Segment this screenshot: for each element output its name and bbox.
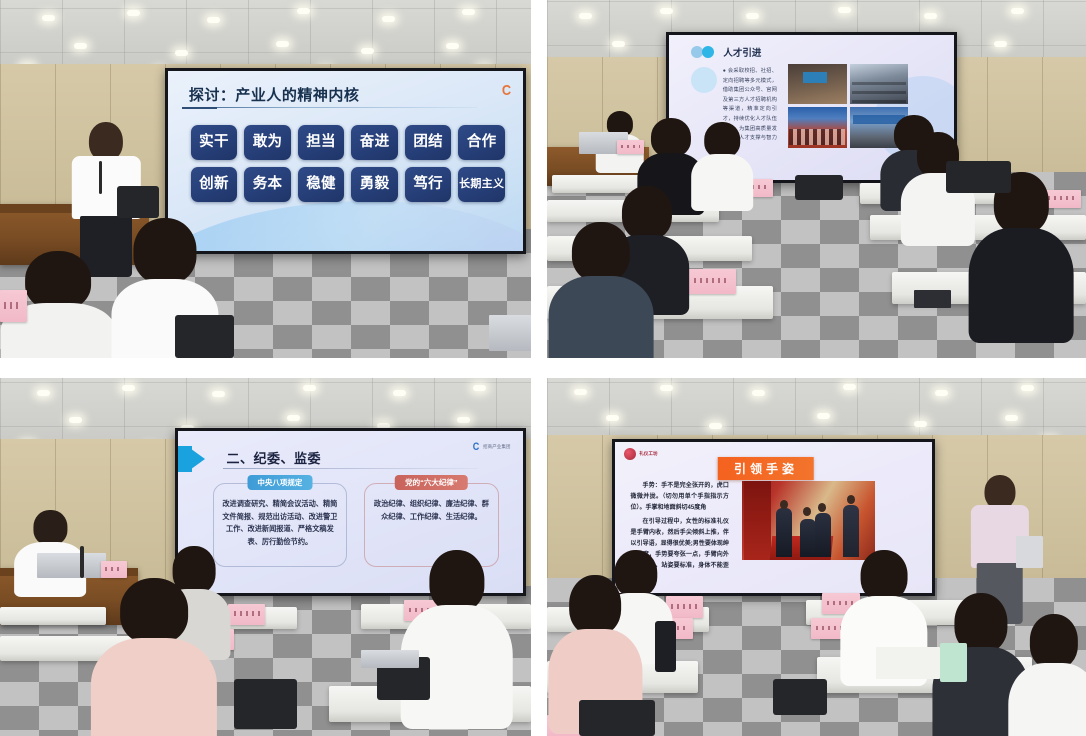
company-logo-text: 招商产业集团 (483, 444, 511, 450)
ceiling-light (1021, 385, 1034, 391)
photo-grid: 探讨：产业人的精神内核 C 实干 敢为 担当 奋进 团结 合作 创新 务本 稳健… (0, 0, 1086, 736)
keyword-tile: 长期主义 (458, 167, 505, 202)
keyword-tile: 务本 (244, 167, 291, 202)
attendee-head (120, 578, 188, 644)
ceiling-light (709, 423, 722, 429)
photo-top-right: 人才引进 ● 会采取校招、社招、定向招聘等多元模式，借助集团公众号、官网及第三方… (547, 0, 1086, 358)
ceiling-light (843, 384, 856, 390)
etiquette-training-scene: 礼仪工坊 引领手姿 手势：手不是完全张开的，虎口微微并拢。（切勿用单个手指指示方… (547, 378, 1086, 736)
photo-bottom-right: 礼仪工坊 引领手姿 手势：手不是完全张开的，虎口微微并拢。（切勿用单个手指指示方… (547, 378, 1086, 736)
photo-figure-head (818, 503, 826, 512)
photo-figure (800, 519, 816, 557)
chair-back (773, 679, 827, 715)
ceiling-light (297, 8, 310, 14)
photo-bottom-left: 二、纪委、监委 C 招商产业集团 中央八项规定 改进调查研究、精简会议活动、精简… (0, 378, 531, 736)
attendee-body (91, 638, 217, 736)
chair-back (175, 315, 233, 358)
ceiling-light (1011, 8, 1024, 14)
chair-back (946, 161, 1011, 193)
ceiling-light (660, 385, 673, 391)
keyword-tile: 合作 (458, 125, 505, 160)
speaker-head (34, 510, 67, 545)
water-bottle (940, 643, 967, 682)
ceiling-light (37, 390, 50, 396)
ceiling-light (446, 43, 459, 49)
keyword-tile: 奋进 (351, 125, 398, 160)
ceiling-light (303, 385, 316, 391)
classroom-scene: 人才引进 ● 会采取校招、社招、定向招聘等多元模式，借助集团公众号、官网及第三方… (547, 0, 1086, 358)
slide-photo (788, 64, 846, 104)
arrow-right-icon (187, 446, 205, 472)
ceiling-light (606, 415, 619, 421)
attendee-head (25, 251, 91, 311)
name-placard (687, 269, 736, 294)
keyword-tile: 敢为 (244, 125, 291, 160)
body-paragraph: 手势：手不是完全张开的，虎口微微并拢。（切勿用单个手指指示方位）。手掌和地面斜切… (631, 481, 729, 514)
ceiling-light (924, 13, 937, 19)
workshop-logo: 礼仪工坊 (624, 448, 657, 460)
ceiling-light (42, 15, 55, 21)
attendee (1011, 614, 1086, 736)
flower-logo-icon (624, 448, 636, 460)
photo-crowd (789, 129, 845, 145)
attendee-head (429, 550, 484, 612)
ceiling-light (175, 50, 188, 56)
company-logo: C 招商产业集团 (472, 441, 511, 453)
ceiling-light (127, 10, 140, 16)
attendee-body (1008, 663, 1086, 736)
meeting-room-scene: 探讨：产业人的精神内核 C 实干 敢为 担当 奋进 团结 合作 创新 务本 稳健… (0, 0, 531, 358)
card-body: 改进调查研究、精简会议活动、精简文件简报、规范出访活动、改进警卫工作、改进新闻报… (222, 498, 338, 548)
slide-banner-title: 引领手姿 (718, 457, 814, 480)
projection-screen: 探讨：产业人的精神内核 C 实干 敢为 担当 奋进 团结 合作 创新 务本 稳健… (165, 68, 526, 254)
slide-title: 人才引进 (723, 45, 761, 59)
ceiling-light (276, 41, 289, 47)
ceiling-light (382, 16, 395, 22)
attendee-head (570, 575, 622, 635)
ceiling-light (1005, 415, 1018, 421)
slide-title-row: 探讨：产业人的精神内核 (189, 84, 505, 105)
photo-top-left: 探讨：产业人的精神内核 C 实干 敢为 担当 奋进 团结 合作 创新 务本 稳健… (0, 0, 531, 358)
photo-inner-screen (803, 72, 826, 82)
ceiling-light (838, 7, 851, 13)
keyword-tile: 勇毅 (351, 167, 398, 202)
ceiling-light (746, 13, 759, 19)
laptop (361, 650, 419, 668)
title-rule (223, 468, 478, 469)
keyword-tile: 团结 (405, 125, 452, 160)
microphone (99, 161, 102, 194)
slide-title: 二、纪委、监委 (226, 448, 321, 467)
presenter-head (89, 122, 123, 161)
microphone (80, 546, 84, 578)
keyword-tile: 担当 (298, 125, 345, 160)
ceiling-light (393, 390, 406, 396)
attendee-head (860, 550, 907, 602)
company-logo-icon: C (473, 441, 480, 453)
keyword-tile: 稳健 (298, 167, 345, 202)
keyword-tile: 笃行 (405, 167, 452, 202)
photo-door (744, 481, 771, 560)
ceiling-light (361, 48, 374, 54)
slide-title: 探讨：产业人的精神内核 (189, 84, 360, 105)
attendee-body (969, 228, 1074, 343)
chair-back (795, 175, 844, 200)
laptop (489, 315, 531, 351)
name-placard (101, 561, 128, 579)
dot-icon (702, 46, 714, 58)
photo-figure (815, 513, 831, 557)
card-chip: 中央八项规定 (247, 475, 312, 490)
lecture-room-scene: 二、纪委、监委 C 招商产业集团 中央八项规定 改进调查研究、精简会议活动、精简… (0, 378, 531, 736)
ceiling-light (287, 415, 300, 421)
keyword-tile: 创新 (191, 167, 238, 202)
keyword-tile: 实干 (191, 125, 238, 160)
ceiling-light (473, 385, 486, 391)
title-rule-accent (182, 107, 218, 109)
photo-figure-head (803, 507, 811, 516)
workshop-logo-text: 礼仪工坊 (639, 451, 657, 457)
slide-illustration-photo (742, 481, 875, 560)
ceiling-light (752, 390, 765, 396)
bottle (655, 621, 677, 671)
attendee (552, 222, 649, 358)
ceiling-light (579, 13, 592, 19)
document-folder (1016, 536, 1043, 568)
attendee (693, 122, 752, 208)
decor-circle (691, 67, 717, 93)
slide-spirit-core: 探讨：产业人的精神内核 C 实干 敢为 担当 奋进 团结 合作 创新 务本 稳健… (168, 71, 523, 251)
attendee-head (651, 118, 691, 157)
ceiling-light (660, 8, 673, 14)
ceiling-light (207, 17, 220, 23)
slide-header: 人才引进 (691, 45, 761, 59)
name-placard (228, 604, 265, 625)
name-placard (0, 290, 27, 322)
photo-seat-rows (852, 82, 906, 103)
desk (0, 607, 106, 625)
ceiling-light (574, 389, 587, 395)
laptop (37, 553, 106, 578)
attendee (973, 172, 1070, 337)
ceiling-light (914, 421, 927, 427)
attendee-body (691, 154, 753, 211)
ceiling-light (817, 413, 830, 419)
info-card: 中央八项规定 改进调查研究、精简会议活动、精简文件简报、规范出访活动、改进警卫工… (213, 483, 347, 567)
photo-figure-head (847, 495, 855, 504)
attendee (96, 578, 213, 736)
ceiling-light (74, 43, 87, 49)
title-rule (182, 107, 477, 108)
chair-back (234, 679, 298, 729)
slide-photo (788, 107, 846, 147)
card-body: 政治纪律、组织纪律、廉洁纪律、群众纪律、工作纪律、生活纪律。 (373, 498, 489, 523)
company-logo-icon: C (502, 82, 511, 99)
ceiling-light (935, 390, 948, 396)
card-chip: 党的“六大纪律” (395, 475, 468, 490)
phone (914, 290, 952, 308)
ceiling-light (212, 391, 225, 397)
chair-back (117, 186, 159, 218)
ceiling-light (462, 9, 475, 15)
ceiling-light (69, 417, 82, 423)
photo-figure (776, 508, 792, 557)
attendee-body (548, 276, 653, 358)
chair-back (579, 700, 654, 736)
attendee-head (572, 222, 630, 282)
slide-swoosh-decoration (168, 201, 523, 251)
attendee-head (704, 122, 740, 158)
keyword-tile-grid: 实干 敢为 担当 奋进 团结 合作 创新 务本 稳健 勇毅 笃行 长期主义 (191, 125, 505, 202)
ceiling-light (994, 41, 1007, 47)
ceiling-light (612, 41, 625, 47)
ceiling-light (122, 385, 135, 391)
attendee-head (133, 218, 196, 284)
tissue-box (876, 647, 941, 679)
attendee-head (1030, 614, 1078, 668)
slide-photo (850, 64, 908, 104)
ceiling-light (457, 417, 470, 423)
